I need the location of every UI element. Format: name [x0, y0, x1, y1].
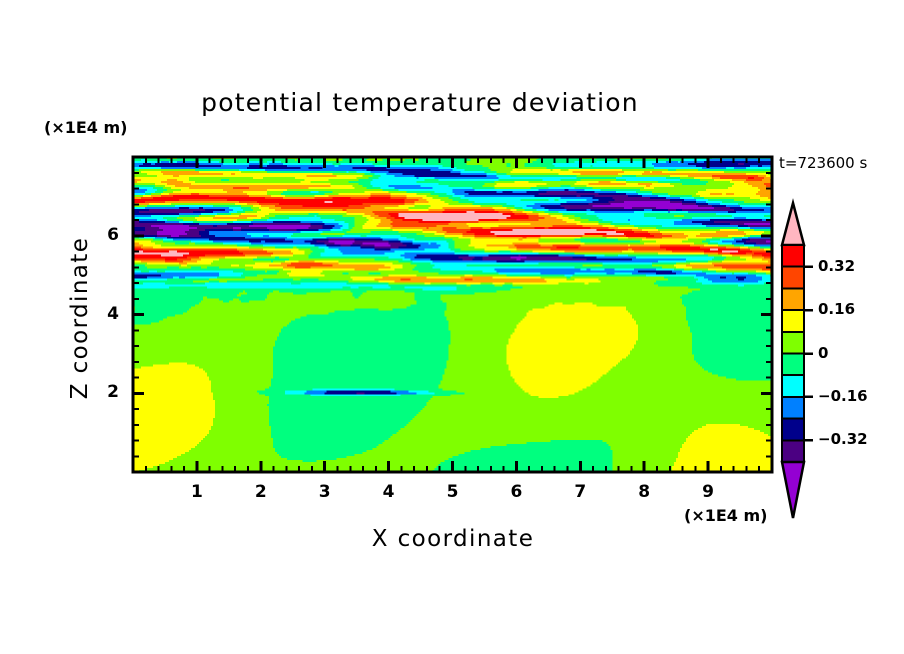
x-tick-label: 6 — [496, 482, 536, 502]
contour-field — [133, 157, 773, 473]
y-tick-label: 6 — [85, 225, 119, 245]
x-tick-label: 1 — [177, 482, 217, 502]
y-tick-label: 2 — [85, 382, 119, 402]
colorbar-tick-label: −0.16 — [818, 387, 868, 405]
y-tick-label: 4 — [85, 304, 119, 324]
contour-plot — [0, 0, 904, 654]
colorbar — [782, 203, 813, 518]
x-tick-label: 5 — [433, 482, 473, 502]
colorbar-tick-label: 0 — [818, 344, 828, 362]
colorbar-tick-label: −0.32 — [818, 430, 868, 448]
x-tick-label: 3 — [305, 482, 345, 502]
x-tick-label: 7 — [560, 482, 600, 502]
colorbar-tick-label: 0.16 — [818, 300, 855, 318]
colorbar-tick-label: 0.32 — [818, 257, 855, 275]
x-tick-label: 2 — [241, 482, 281, 502]
x-tick-label: 4 — [369, 482, 409, 502]
figure-canvas: potential temperature deviation (×1E4 m)… — [0, 0, 904, 654]
x-tick-label: 9 — [688, 482, 728, 502]
x-tick-label: 8 — [624, 482, 664, 502]
